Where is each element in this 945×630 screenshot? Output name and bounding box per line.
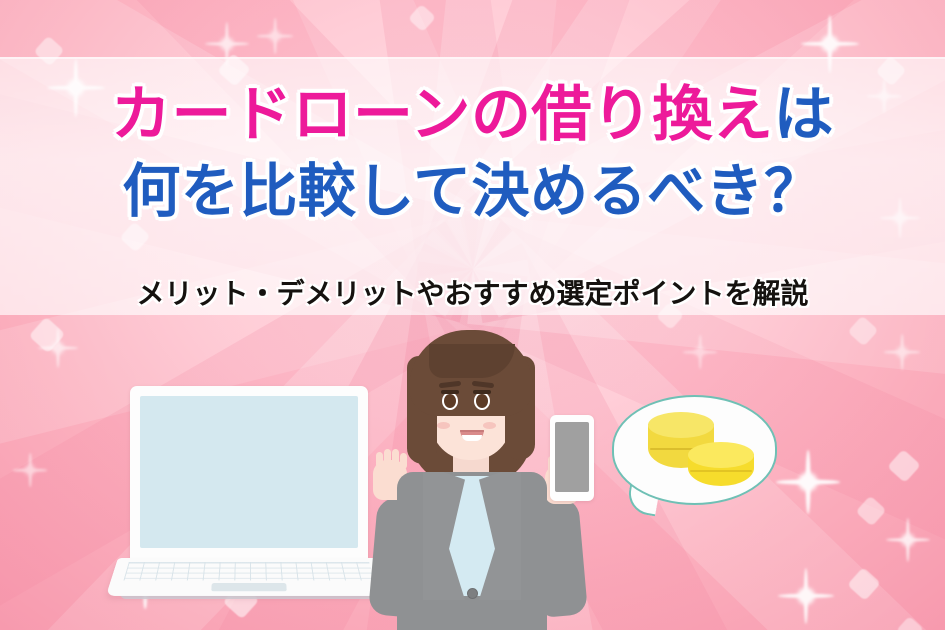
- laptop-trackpad: [211, 583, 287, 591]
- laptop-illustration: [118, 386, 380, 616]
- coin-stack-2-top: [688, 442, 754, 468]
- headline-line-1: カードローンの借り換えは: [0, 84, 945, 146]
- finger: [376, 452, 383, 468]
- woman-pupil-right: [476, 394, 488, 408]
- woman-eye-right: [474, 392, 490, 410]
- coin-stack-2-groove: [690, 470, 752, 472]
- woman-eyelash-right: [473, 390, 491, 394]
- woman-teeth: [462, 435, 482, 441]
- finger: [392, 449, 399, 465]
- band-top-edge: [0, 57, 945, 59]
- coin-stack-1-top: [648, 412, 714, 438]
- woman-blazer-button: [467, 588, 478, 599]
- woman-cheek-right: [483, 422, 496, 429]
- woman-cheek-left: [437, 422, 450, 429]
- headline-block: カードローンの借り換えは 何を比較して決めるべき？: [0, 84, 945, 224]
- laptop-base: [106, 558, 392, 596]
- laptop-keyboard: [123, 562, 374, 580]
- hero-banner: カードローンの借り換えは 何を比較して決めるべき？ メリット・デメリットやおすす…: [0, 0, 945, 630]
- woman-pupil-left: [444, 394, 456, 408]
- finger: [400, 453, 407, 469]
- smartphone-screen: [555, 422, 589, 492]
- finger: [384, 449, 391, 465]
- laptop-lid: [130, 386, 368, 562]
- laptop-screen: [140, 396, 358, 548]
- woman-eyelash-left: [441, 390, 459, 394]
- smartphone-illustration: [550, 415, 594, 501]
- subtitle: メリット・デメリットやおすすめ選定ポイントを解説: [0, 272, 945, 312]
- headline-line-2: 何を比較して決めるべき？: [0, 158, 945, 224]
- woman-eye-left: [442, 392, 458, 410]
- headline-line-1-blue: は: [774, 80, 835, 150]
- headline-line-1-pink: カードローンの借り換え: [111, 80, 774, 150]
